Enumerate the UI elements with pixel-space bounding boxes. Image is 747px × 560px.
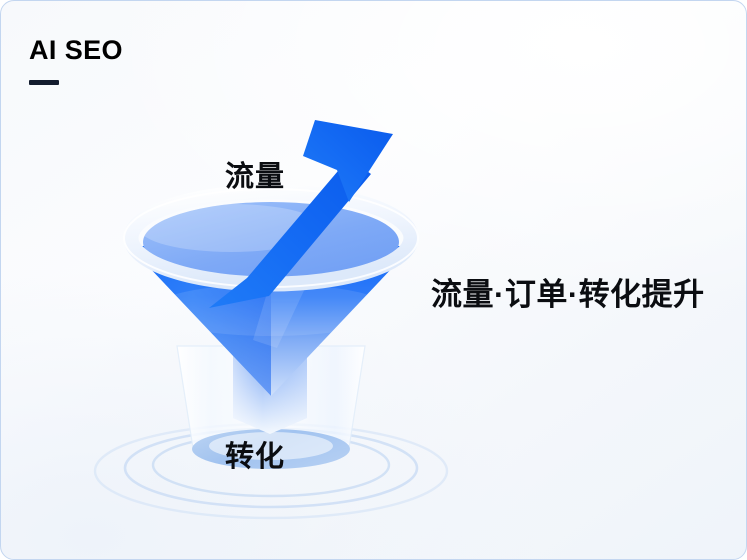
label-traffic: 流量 (225, 153, 285, 195)
header: AI SEO (29, 37, 289, 85)
title-underline-rule (29, 80, 59, 85)
poster-canvas: AI SEO 流量·订单·转化提升 (0, 0, 747, 560)
page-title: AI SEO (29, 37, 289, 64)
label-conversion: 转化 (225, 433, 285, 475)
tagline-text: 流量·订单·转化提升 (431, 277, 705, 313)
